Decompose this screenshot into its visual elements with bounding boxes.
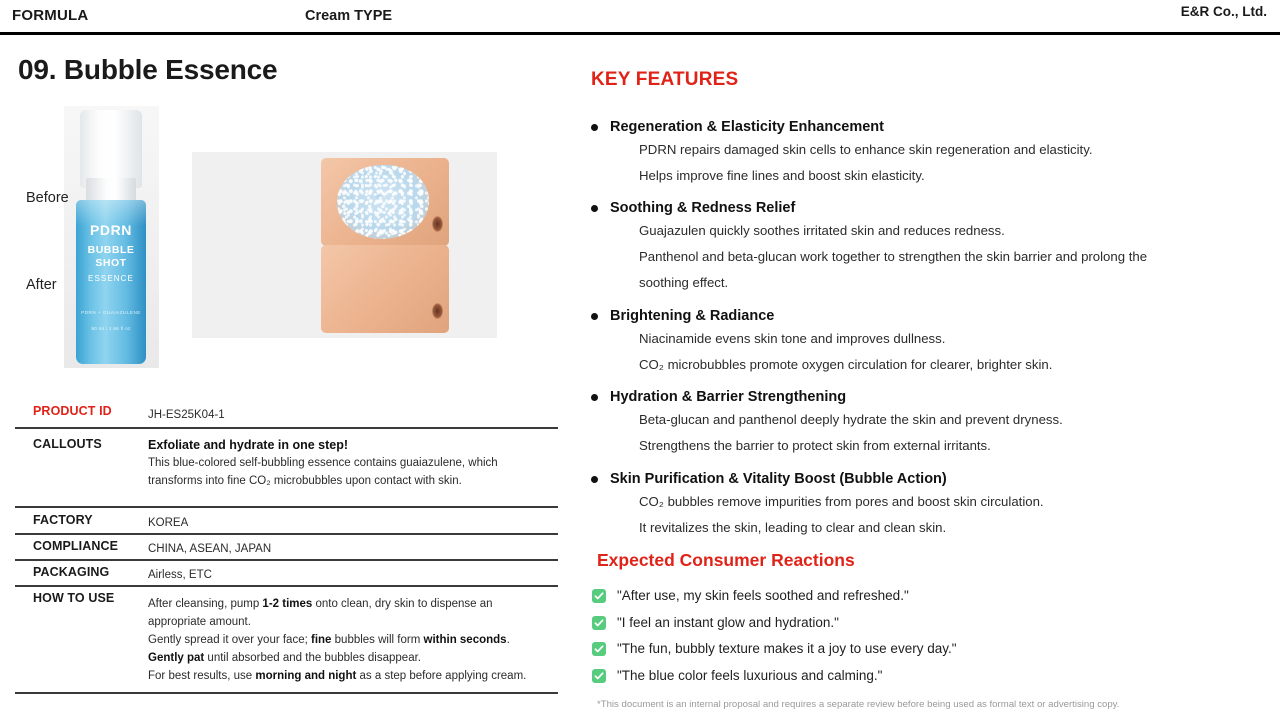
checkbox-checked-icon [592,642,606,656]
row-value: JH-ES25K04-1 [148,406,554,424]
feature-heading-text: Regeneration & Elasticity Enhancement [610,119,884,135]
row-label: CALLOUTS [33,437,102,451]
row-label: HOW TO USE [33,591,114,605]
htu-text: until absorbed and the bubbles disappear… [204,652,421,664]
feature-line: Niacinamide evens skin tone and improves… [591,326,1246,352]
bottle-neck [86,178,136,202]
row-value: After cleansing, pump 1-2 times onto cle… [148,595,554,685]
feature-line: Guajazulen quickly soothes irritated ski… [591,218,1246,244]
htu-emphasis: within seconds [424,634,507,646]
feature-heading: Soothing & Redness Relief [591,198,1246,218]
row-label: COMPLIANCE [33,539,118,553]
bottle-name-text: BUBBLE SHOT [76,244,146,270]
feature-heading: Hydration & Barrier Strengthening [591,387,1246,407]
feature-line: soothing effect. [591,270,1246,296]
table-row-product-id: PRODUCT ID JH-ES25K04-1 [15,396,558,429]
feature-heading-text: Brightening & Radiance [610,308,774,324]
bullet-icon [591,205,598,212]
after-photo [321,245,449,333]
feature-line: Beta-glucan and panthenol deeply hydrate… [591,407,1246,433]
checkbox-checked-icon [592,589,606,603]
feature-heading-text: Soothing & Redness Relief [610,200,795,216]
how-to-use-line-5: For best results, use morning and night … [148,667,554,685]
feature-line: Strengthens the barrier to protect skin … [591,433,1246,459]
row-value: Airless, ETC [148,566,554,584]
feature-item-4: Hydration & Barrier Strengthening Beta-g… [591,387,1246,459]
bullet-icon [591,394,598,401]
bullet-icon [591,476,598,483]
bottle-category-text: ESSENCE [76,274,146,283]
feature-heading: Skin Purification & Vitality Boost (Bubb… [591,469,1246,489]
header-divider [0,32,1280,35]
callout-body-line1: This blue-colored self-bubbling essence … [148,454,554,472]
feature-line: PDRN repairs damaged skin cells to enhan… [591,137,1246,163]
htu-text: as a step before applying cream. [356,670,526,682]
bottle-body: PDRN BUBBLE SHOT ESSENCE PDRN + GUAIAZUL… [76,200,146,364]
table-row-compliance: COMPLIANCE CHINA, ASEAN, JAPAN [15,535,558,561]
feature-line: It revitalizes the skin, leading to clea… [591,515,1246,541]
htu-text: onto clean, dry skin to dispense an [312,598,492,610]
bottle-pump-cap [80,110,142,188]
how-to-use-line-2: appropriate amount. [148,613,554,631]
bullet-icon [591,124,598,131]
expected-reactions-title: Expected Consumer Reactions [597,550,855,571]
checkbox-checked-icon [592,616,606,630]
feature-item-5: Skin Purification & Vitality Boost (Bubb… [591,469,1246,541]
checkbox-checked-icon [592,669,606,683]
htu-emphasis: fine [311,634,331,646]
key-features-title: KEY FEATURES [591,69,738,91]
callout-body-line2: transforms into fine CO₂ microbubbles up… [148,472,554,490]
htu-emphasis: Gently pat [148,652,204,664]
page-title: 09. Bubble Essence [18,54,277,86]
list-item: "I feel an instant glow and hydration." [592,613,1232,640]
bottle-volume-text: 50 ml / 1.66 fl oz [76,326,146,331]
feature-heading-text: Skin Purification & Vitality Boost (Bubb… [610,471,947,487]
reaction-text: "The fun, bubbly texture makes it a joy … [617,641,957,656]
feature-line: CO₂ bubbles remove impurities from pores… [591,489,1246,515]
header-company-name: E&R Co., Ltd. [1181,4,1267,19]
how-to-use-line-3: Gently spread it over your face; fine bu… [148,631,554,649]
table-row-how-to-use: HOW TO USE After cleansing, pump 1-2 tim… [15,587,558,694]
skin-detail [432,303,443,319]
reaction-text: "I feel an instant glow and hydration." [617,615,839,630]
product-spec-page: FORMULA Cream TYPE E&R Co., Ltd. 09. Bub… [0,0,1280,720]
feature-item-1: Regeneration & Elasticity Enhancement PD… [591,117,1246,189]
before-photo [321,158,449,246]
row-label: PACKAGING [33,565,109,579]
feature-line: CO₂ microbubbles promote oxygen circulat… [591,352,1246,378]
row-label: PRODUCT ID [33,404,112,418]
header-formula-label: FORMULA [12,7,88,24]
feature-heading: Brightening & Radiance [591,306,1246,326]
after-label: After [26,277,57,293]
row-label: FACTORY [33,513,93,527]
feature-item-3: Brightening & Radiance Niacinamide evens… [591,306,1246,378]
reaction-text: "After use, my skin feels soothed and re… [617,588,909,603]
list-item: "The blue color feels luxurious and calm… [592,666,1232,693]
feature-line: Panthenol and beta-glucan work together … [591,244,1246,270]
page-header: FORMULA Cream TYPE E&R Co., Ltd. [0,0,1280,34]
how-to-use-line-4: Gently pat until absorbed and the bubble… [148,649,554,667]
reaction-text: "The blue color feels luxurious and calm… [617,668,882,683]
callout-headline: Exfoliate and hydrate in one step! [148,436,554,454]
bottle-name-line2: SHOT [76,257,146,270]
spec-table: PRODUCT ID JH-ES25K04-1 CALLOUTS Exfolia… [15,396,558,694]
bottle-ingredients-text: PDRN + GUAIAZULENE [76,310,146,315]
table-row-packaging: PACKAGING Airless, ETC [15,561,558,587]
htu-text: For best results, use [148,670,255,682]
skin-detail [432,216,443,232]
row-value: CHINA, ASEAN, JAPAN [148,540,554,558]
feature-heading: Regeneration & Elasticity Enhancement [591,117,1246,137]
list-item: "The fun, bubbly texture makes it a joy … [592,639,1232,666]
bottle-name-line1: BUBBLE [76,244,146,257]
bottle-brand-text: PDRN [76,222,146,238]
htu-emphasis: 1-2 times [262,598,312,610]
row-divider [15,692,558,694]
row-value: Exfoliate and hydrate in one step! This … [148,436,554,490]
htu-emphasis: morning and night [255,670,356,682]
bullet-icon [591,313,598,320]
feature-line: Helps improve fine lines and boost skin … [591,163,1246,189]
footnote-disclaimer: *This document is an internal proposal a… [597,699,1119,710]
feature-heading-text: Hydration & Barrier Strengthening [610,389,846,405]
bubble-foam-graphic [337,165,429,239]
table-row-callouts: CALLOUTS Exfoliate and hydrate in one st… [15,429,558,508]
table-row-factory: FACTORY KOREA [15,508,558,535]
product-bottle-image: PDRN BUBBLE SHOT ESSENCE PDRN + GUAIAZUL… [64,106,159,368]
list-item: "After use, my skin feels soothed and re… [592,586,1232,613]
expected-reactions-list: "After use, my skin feels soothed and re… [592,586,1232,692]
htu-text: After cleansing, pump [148,598,262,610]
htu-text: Gently spread it over your face; [148,634,311,646]
row-value: KOREA [148,514,554,532]
before-label: Before [26,190,69,206]
htu-text: bubbles will form [331,634,423,646]
how-to-use-line-1: After cleansing, pump 1-2 times onto cle… [148,595,554,613]
feature-item-2: Soothing & Redness Relief Guajazulen qui… [591,198,1246,296]
header-type-label: Cream TYPE [305,8,392,24]
htu-text: . [507,634,510,646]
